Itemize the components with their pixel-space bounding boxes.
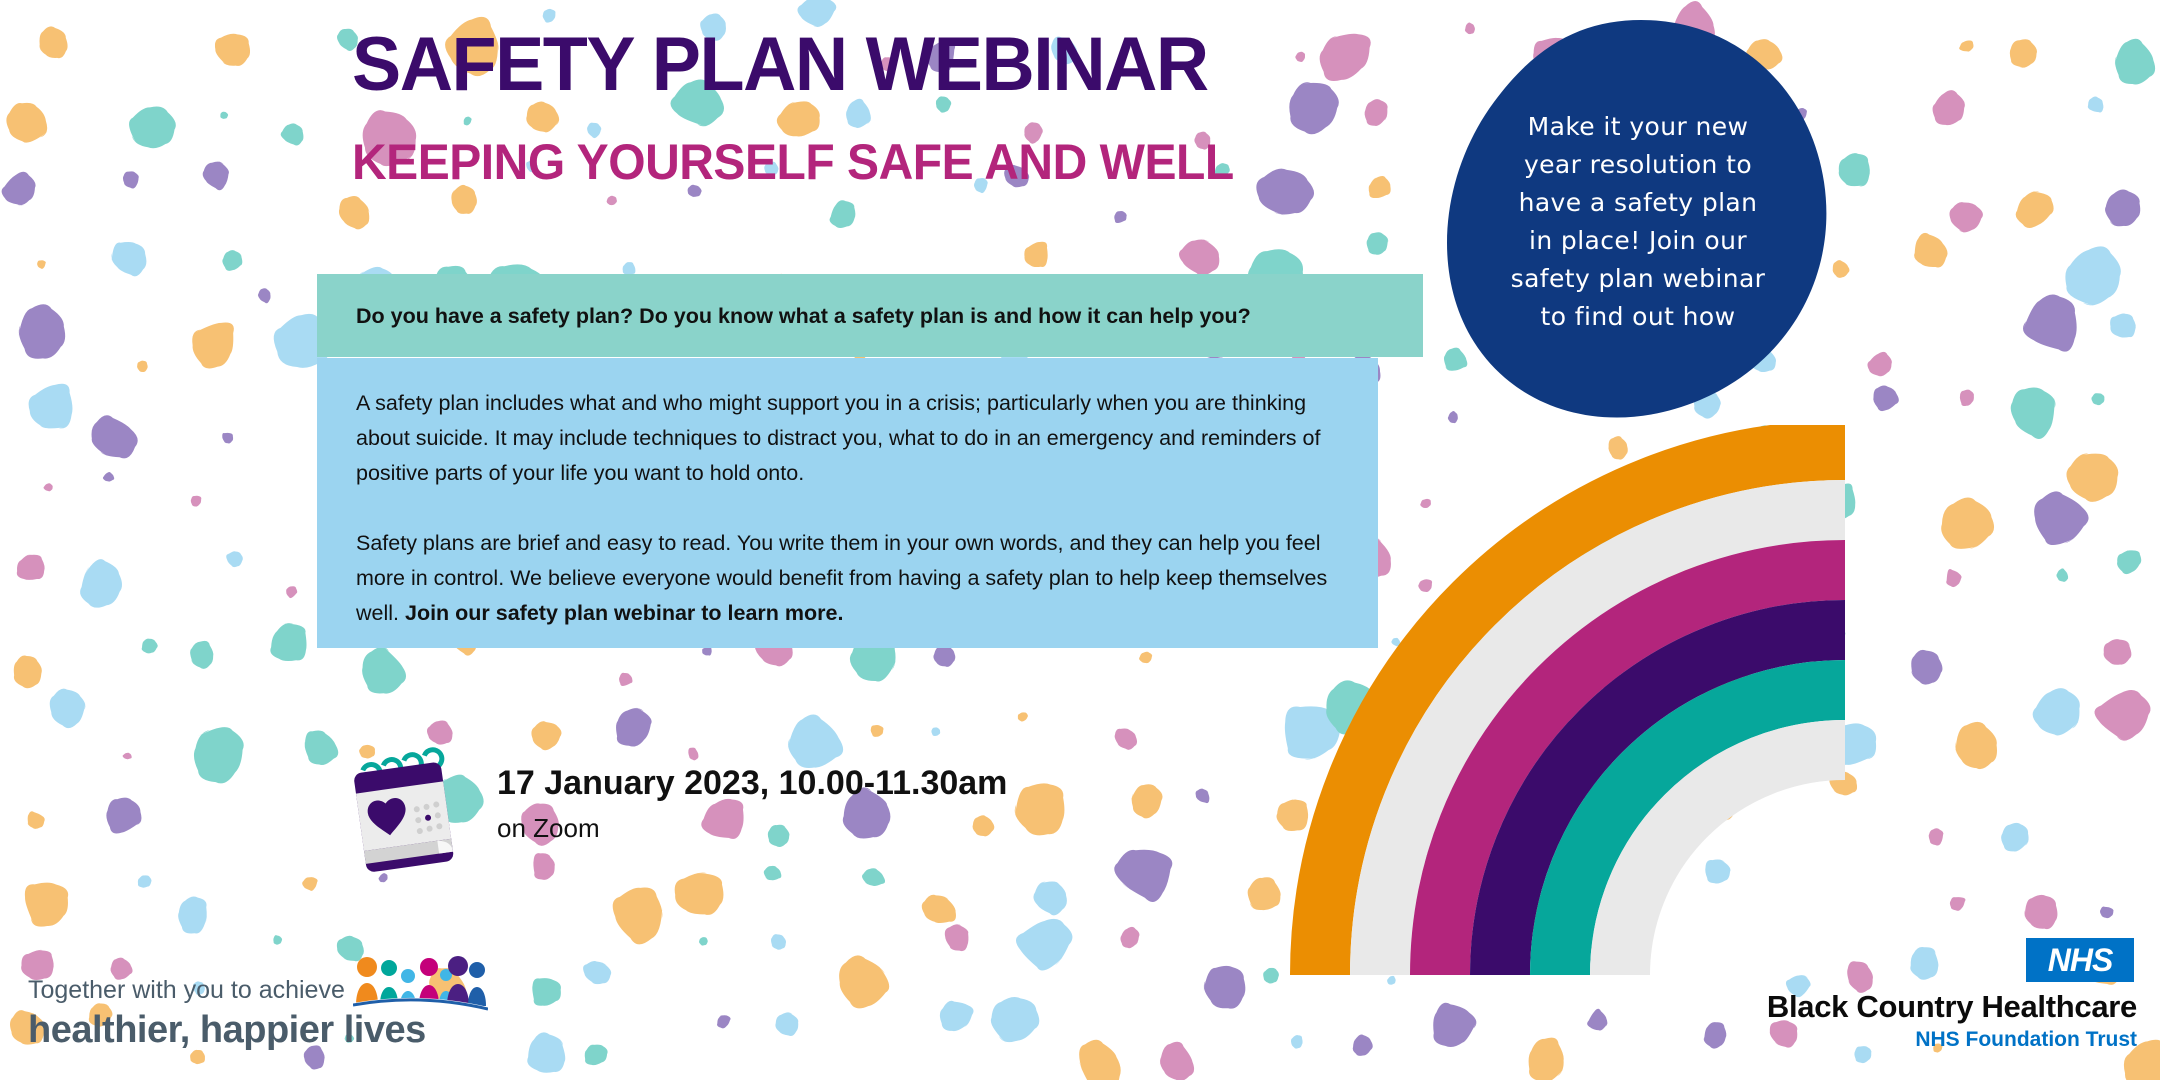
confetti-dot [2012,288,2088,364]
confetti-dot [88,413,141,461]
calendar-heart-icon [350,739,460,884]
confetti-dot [184,636,221,673]
confetti-dot [2100,185,2146,233]
confetti-dot [617,671,635,689]
confetti-dot [189,494,202,508]
group-of-people-icon [353,953,488,1013]
trust-subtitle: NHS Foundation Trust [1747,1027,2137,1053]
confetti-dot [1276,70,1349,142]
confetti-dot [1289,1033,1305,1050]
confetti-dot [2006,36,2040,71]
confetti-dot [1362,227,1394,258]
confetti-dot [122,170,140,189]
confetti-dot [985,992,1044,1051]
confetti-dot [1110,724,1141,753]
body-panel: A safety plan includes what and who migh… [317,358,1378,648]
trust-name: Black Country Healthcare [1747,988,2137,1026]
confetti-dot [824,196,859,231]
confetti-dot [1020,236,1054,270]
confetti-dot [1957,37,1976,55]
callout-line-6: to find out how [1541,298,1736,336]
confetti-dot [2099,906,2114,919]
confetti-dot [210,29,254,71]
confetti-dot [1869,382,1901,414]
poster-canvas: Make it your new year resolution to have… [0,0,2160,1080]
confetti-dot [102,471,116,484]
confetti-dot [1198,960,1252,1015]
confetti-dot [1255,167,1316,217]
confetti-dot [271,934,284,947]
confetti-dot [1520,1031,1575,1080]
confetti-dot [2111,36,2158,87]
confetti-dot [301,875,320,894]
confetti-dot [302,727,341,768]
question-text: Do you have a safety plan? Do you know w… [356,302,1251,330]
nhs-badge: NHS [2026,938,2134,982]
callout-line-4: in place! Join our [1529,222,1747,260]
confetti-dot [2089,390,2107,408]
confetti-dot [1926,86,1973,131]
confetti-dot [2060,243,2127,311]
confetti-dot [2085,93,2108,116]
confetti-dot [464,117,472,126]
confetti-dot [1072,1034,1128,1080]
confetti-dot [218,110,229,121]
body-paragraph-2-bold: Join our safety plan webinar to learn mo… [405,601,843,625]
question-panel: Do you have a safety plan? Do you know w… [317,274,1423,357]
confetti-dot [1905,227,1953,277]
confetti-dot [32,22,73,65]
confetti-dot [918,890,961,928]
confetti-dot [2092,687,2155,747]
confetti-dot [138,636,160,658]
confetti-dot [2098,631,2137,670]
confetti-dot [12,300,71,364]
confetti-dot [1157,1040,1196,1080]
confetti-dot [1386,974,1398,986]
confetti-dot [45,683,91,732]
confetti-dot [2054,567,2071,584]
confetti-dot [1112,209,1129,226]
confetti-dot [21,373,89,441]
confetti-dot [2011,187,2057,231]
confetti-dot [102,794,147,840]
confetti-dot [1954,386,1977,409]
confetti-dot [179,715,256,792]
confetti-dot [1118,924,1143,951]
confetti-dot [775,1011,800,1037]
confetti-dot [263,617,314,668]
confetti-dot [767,931,789,953]
confetti-dot [609,883,669,948]
confetti-dot [257,287,272,304]
confetti-dot [2002,376,2070,446]
confetti-dot [1949,201,1984,234]
confetti-dot [2109,312,2138,339]
callout-line-5: safety plan webinar [1511,260,1766,298]
confetti-dot [201,159,231,192]
confetti-dot [121,96,184,159]
body-paragraph-2: Safety plans are brief and easy to read.… [356,526,1342,631]
confetti-dot [1139,651,1152,663]
confetti-dot [579,1038,612,1070]
confetti-dot [934,995,976,1038]
confetti-dot [1832,146,1881,195]
confetti-dot [223,549,244,569]
confetti-dot [1130,784,1163,819]
confetti-dot [2018,890,2063,935]
confetti-dot [1308,18,1380,92]
confetti-dot [43,482,54,493]
confetti-dot [1697,1018,1733,1053]
confetti-dot [13,874,75,937]
tagline-line-2: healthier, happier lives [28,1007,426,1053]
confetti-dot [1005,775,1076,845]
confetti-dot [333,190,377,235]
callout-line-1: Make it your new [1528,108,1749,146]
confetti-dot [606,195,618,207]
confetti-dot [107,237,150,281]
confetti-dot [1931,489,2002,560]
callout-line-2: year resolution to [1524,146,1752,184]
confetti-dot [122,752,132,761]
event-details: 17 January 2023, 10.00-11.30am on Zoom [350,735,1007,884]
confetti-dot [520,1026,575,1080]
confetti-dot [1948,894,1968,913]
confetti-dot [1425,995,1484,1052]
confetti-dot [1925,826,1946,848]
confetti-dot [1016,711,1029,723]
confetti-dot [22,808,47,833]
confetti-dot [221,431,235,445]
confetti-dot [11,550,49,587]
confetti-dot [1009,906,1079,977]
confetti-dot [1950,719,2001,774]
body-paragraph-1: A safety plan includes what and who migh… [356,386,1342,491]
confetti-dot [1903,644,1950,691]
confetti-dot [1363,172,1395,204]
confetti-dot [2022,482,2094,555]
confetti-dot [181,310,243,375]
event-date-time: 17 January 2023, 10.00-11.30am [497,763,1007,803]
confetti-dot [523,971,567,1015]
confetti-dot [1109,835,1181,906]
confetti-dot [943,922,970,953]
confetti-dot [1586,1007,1609,1031]
confetti-dot [361,643,407,695]
confetti-dot [579,956,615,989]
confetti-dot [1240,871,1289,920]
poster-title: SAFETY PLAN WEBINAR [352,22,1208,108]
confetti-dot [1998,820,2033,855]
confetti-dot [218,246,247,275]
poster-subtitle: KEEPING YOURSELF SAFE AND WELL [352,133,1234,191]
nhs-logo: NHS Black Country Healthcare NHS Foundat… [1747,938,2137,1053]
confetti-dot [135,872,154,890]
confetti-dot [2058,441,2128,511]
confetti-dot [36,259,47,271]
callout-text: Make it your new year resolution to have… [1438,12,1838,422]
confetti-dot [1349,1032,1375,1059]
confetti-dot [1261,966,1280,984]
confetti-dot [1193,785,1214,805]
nhs-badge-text: NHS [2048,942,2113,979]
confetti-dot [2028,682,2087,741]
confetti-dot [714,1012,734,1031]
callout-blob: Make it your new year resolution to have… [1438,12,1838,422]
confetti-dot [1027,873,1074,920]
confetti-dot [827,948,897,1018]
confetti-dot [1362,97,1391,129]
callout-line-3: have a safety plan [1519,184,1758,222]
confetti-dot [2114,547,2144,576]
event-platform: on Zoom [497,811,1007,845]
trust-tagline: Together with you to achieve healthier, … [28,975,426,1053]
confetti-dot [278,119,309,150]
confetti-dot [177,895,209,935]
confetti-dot [8,651,46,691]
confetti-dot [0,96,56,149]
event-text-group: 17 January 2023, 10.00-11.30am on Zoom [497,735,1007,845]
confetti-dot [1294,50,1306,62]
confetti-dot [74,555,129,614]
confetti-dot [1176,235,1224,279]
confetti-dot [0,169,41,211]
confetti-dot [284,583,300,600]
confetti-dot [1940,566,1964,590]
confetti-dot [137,360,148,372]
confetti-dot [1865,350,1895,379]
confetti-dot [698,936,708,946]
